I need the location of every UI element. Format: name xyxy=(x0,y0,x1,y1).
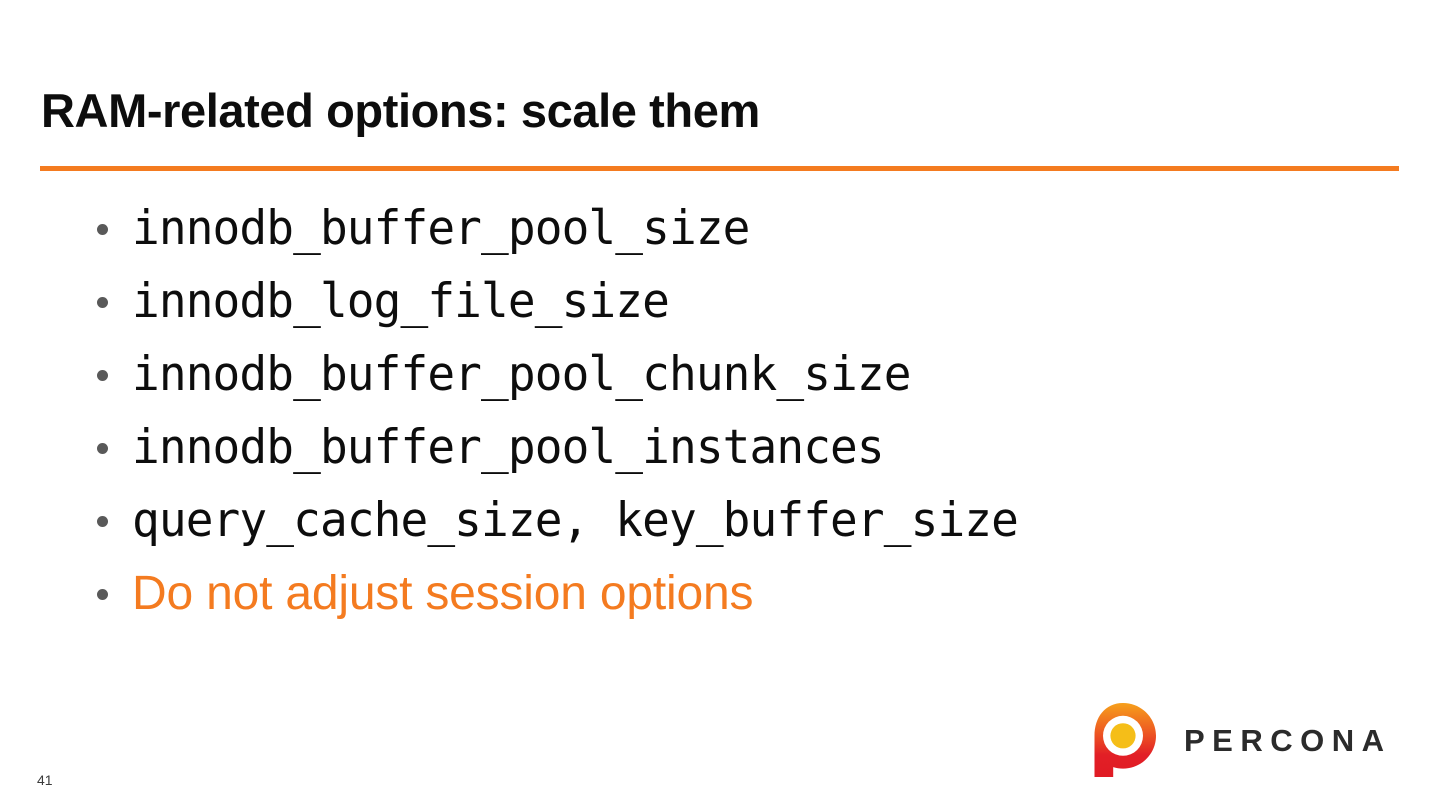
list-item-label: innodb_buffer_pool_instances xyxy=(132,420,884,476)
bullet-dot-icon xyxy=(97,224,108,235)
title-divider xyxy=(40,166,1399,171)
list-item: query_cache_size, key_buffer_size xyxy=(88,484,1388,557)
percona-p-icon xyxy=(1086,702,1160,778)
list-item-highlighted: Do not adjust session options xyxy=(88,557,1388,630)
percona-wordmark: PERCONA xyxy=(1184,725,1392,756)
list-item: innodb_buffer_pool_chunk_size xyxy=(88,338,1388,411)
slide: RAM-related options: scale them innodb_b… xyxy=(0,0,1440,811)
list-item-label: innodb_buffer_pool_size xyxy=(132,201,750,257)
bullet-list: innodb_buffer_pool_size innodb_log_file_… xyxy=(88,192,1388,630)
list-item-label: query_cache_size, key_buffer_size xyxy=(132,493,1018,549)
list-item-label: innodb_log_file_size xyxy=(132,274,669,330)
list-item: innodb_buffer_pool_size xyxy=(88,192,1388,265)
list-item: innodb_log_file_size xyxy=(88,265,1388,338)
list-item-label: innodb_buffer_pool_chunk_size xyxy=(132,347,911,403)
percona-logo: PERCONA xyxy=(1086,700,1398,780)
bullet-dot-icon xyxy=(97,370,108,381)
bullet-dot-icon xyxy=(97,297,108,308)
page-number: 41 xyxy=(37,772,53,788)
bullet-dot-icon xyxy=(97,443,108,454)
bullet-dot-icon xyxy=(97,589,108,600)
page-title: RAM-related options: scale them xyxy=(41,83,1381,139)
list-item: innodb_buffer_pool_instances xyxy=(88,411,1388,484)
bullet-dot-icon xyxy=(97,516,108,527)
list-item-label: Do not adjust session options xyxy=(132,566,753,622)
